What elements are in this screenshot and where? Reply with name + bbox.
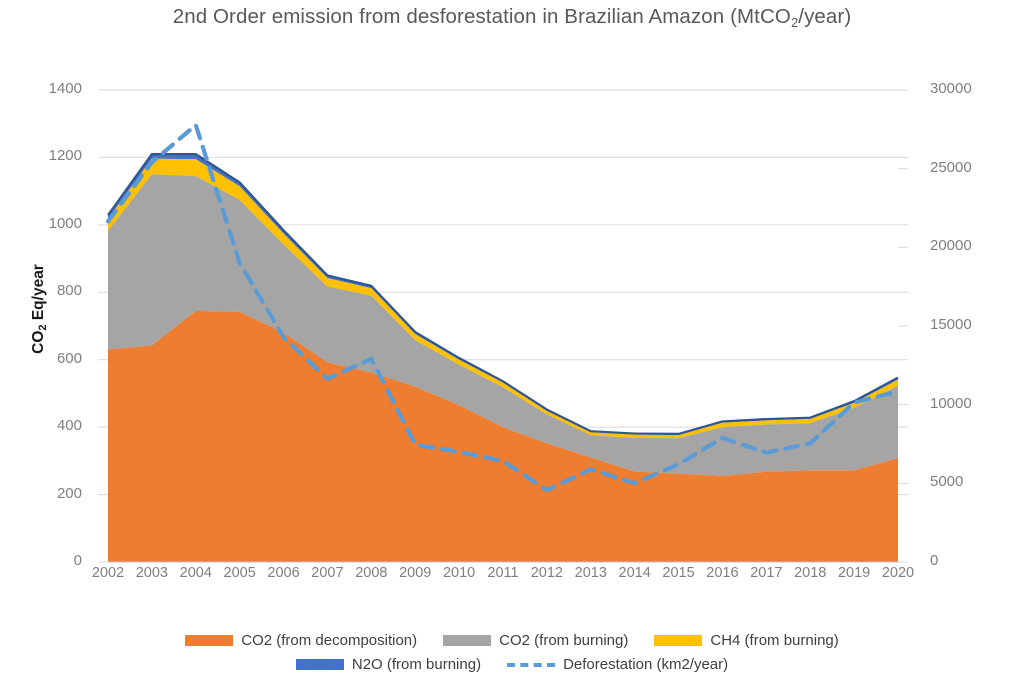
legend-swatch-icon [654,635,702,646]
legend-label: CH4 (from burning) [710,632,838,649]
legend-item[interactable]: CO2 (from burning) [443,632,628,649]
legend-swatch-icon [185,635,233,646]
legend-item[interactable]: CO2 (from decomposition) [185,632,417,649]
legend-label: CO2 (from decomposition) [241,632,417,649]
legend-row: CO2 (from decomposition)CO2 (from burnin… [0,632,1024,649]
legend-label: Deforestation (km2/year) [563,656,728,673]
plot-area [0,0,1024,700]
legend-item[interactable]: Deforestation (km2/year) [507,656,728,673]
legend-swatch-icon [507,663,555,667]
legend-row: N2O (from burning)Deforestation (km2/yea… [0,656,1024,673]
legend-swatch-icon [296,659,344,670]
legend-label: CO2 (from burning) [499,632,628,649]
legend-label: N2O (from burning) [352,656,481,673]
legend-swatch-icon [443,635,491,646]
legend-item[interactable]: CH4 (from burning) [654,632,838,649]
chart-legend: CO2 (from decomposition)CO2 (from burnin… [0,632,1024,680]
chart-container: 2nd Order emission from desforestation i… [0,0,1024,700]
legend-item[interactable]: N2O (from burning) [296,656,481,673]
